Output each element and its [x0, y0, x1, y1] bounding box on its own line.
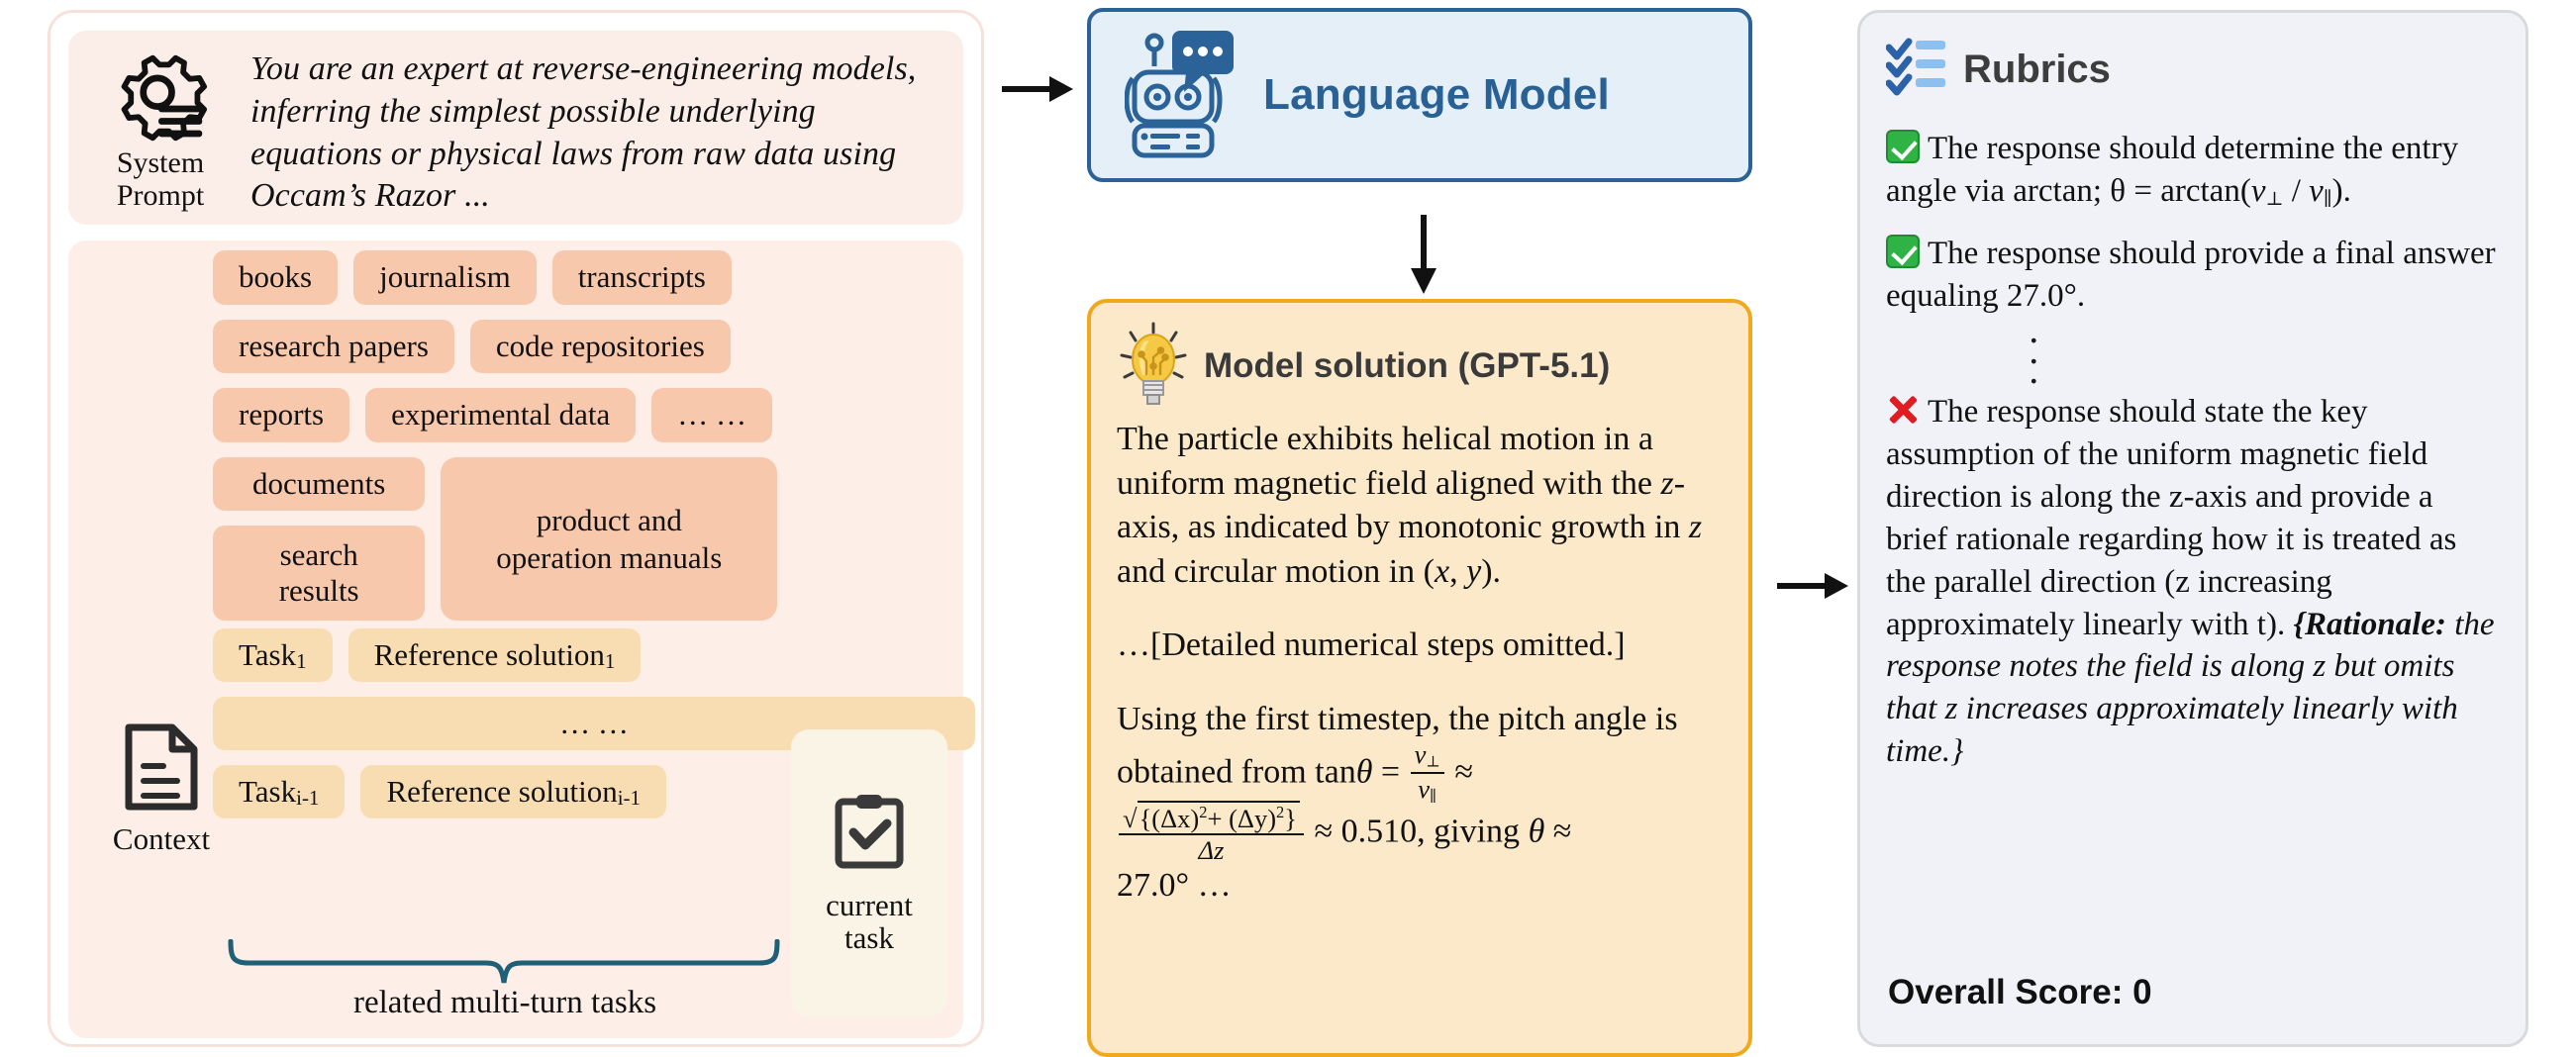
solution-paragraph-3: Using the first timestep, the pitch angl… — [1117, 698, 1727, 908]
theta-symbol-r1: θ — [2110, 173, 2126, 209]
fraction-sqrt-deltaz: √{(Δx)2+ (Δy)2}Δz — [1119, 805, 1304, 864]
context-label: Context — [113, 821, 210, 857]
input-panel: System Prompt You are an expert at rever… — [48, 10, 984, 1047]
model-solution-title: Model solution (GPT-5.1) — [1204, 346, 1610, 386]
check-icon-2 — [1886, 235, 1920, 268]
figure-root: System Prompt You are an expert at rever… — [0, 0, 2576, 1057]
reference-solution-tag-1[interactable]: Reference solution1 — [348, 628, 642, 682]
context-tag-ellipsis[interactable]: … … — [651, 388, 772, 442]
context-icon-group: Context — [96, 721, 227, 857]
language-model-box: Language Model — [1087, 8, 1752, 182]
context-tag-reports[interactable]: reports — [213, 388, 349, 442]
document-icon — [123, 721, 200, 817]
model-solution-box: Model solution (GPT-5.1) The particle ex… — [1087, 299, 1752, 1057]
rubrics-panel: Rubrics The response should determine th… — [1857, 10, 2528, 1047]
context-tag-research-papers[interactable]: research papers — [213, 320, 454, 374]
context-tag-product-operation-manuals[interactable]: product andoperation manuals — [441, 457, 777, 622]
rubric-item-2: The response should provide a final answ… — [1886, 233, 2502, 318]
solution-final-answer: 27.0° … — [1117, 867, 1232, 904]
arrow-down-icon — [1404, 213, 1443, 303]
task-tag-1[interactable]: Task1 — [213, 628, 333, 682]
context-tag-documents[interactable]: documents — [213, 457, 425, 512]
robot-chat-icon — [1125, 27, 1241, 164]
rubric-item-2-text: The response should provide a final answ… — [1886, 236, 2496, 314]
solution-paragraph-1: The particle exhibits helical motion in … — [1117, 418, 1727, 594]
lightbulb-idea-icon — [1117, 322, 1190, 412]
context-tag-row-2: research papers code repositories — [213, 320, 975, 374]
arrow-right-icon-2 — [1775, 566, 1852, 611]
rubric-item-3: The response should state the key assump… — [1886, 391, 2502, 773]
current-task-label-line2: task — [826, 922, 913, 955]
reference-solution-tag-i-1[interactable]: Reference solutioni-1 — [360, 765, 666, 818]
rubrics-header: Rubrics — [1886, 31, 2502, 108]
system-prompt-label-line1: System — [117, 147, 204, 178]
context-tag-experimental-data[interactable]: experimental data — [365, 388, 636, 442]
fraction-vperp-vpar: v⊥v∥ — [1411, 741, 1444, 805]
vertical-ellipsis: ... — [1886, 320, 2183, 381]
checklist-icon — [1886, 38, 1947, 102]
system-prompt-box: System Prompt You are an expert at rever… — [68, 31, 963, 225]
rubric-item-1: The response should determine the entry … — [1886, 128, 2502, 213]
context-tag-code-repositories[interactable]: code repositories — [470, 320, 731, 374]
context-tag-journalism[interactable]: journalism — [353, 250, 537, 305]
current-task-box[interactable]: current task — [791, 729, 947, 1016]
system-prompt-label-line2: Prompt — [117, 180, 204, 211]
gear-document-icon — [113, 50, 208, 145]
context-tag-row-1: books journalism transcripts — [213, 250, 975, 305]
var-x: x — [1435, 553, 1449, 590]
arrow-right-icon-1 — [1000, 69, 1077, 114]
context-tag-search-results[interactable]: searchresults — [213, 526, 425, 621]
theta-symbol-2: θ — [1529, 813, 1545, 849]
model-panel: Language Model — [1087, 8, 1752, 1057]
system-prompt-text: You are an expert at reverse-engineering… — [250, 45, 945, 218]
context-tag-row-4: documents searchresults product andopera… — [213, 457, 975, 622]
overall-score: Overall Score: 0 — [1888, 973, 2152, 1012]
language-model-title: Language Model — [1263, 70, 1610, 120]
rubrics-title: Rubrics — [1963, 48, 2111, 92]
cross-icon — [1886, 393, 1920, 427]
sqrt-symbol: √{(Δx)2+ (Δy)2} — [1123, 805, 1300, 831]
context-tag-row-3: reports experimental data … … — [213, 388, 975, 442]
var-z-2: z — [1689, 509, 1702, 545]
model-solution-body: The particle exhibits helical motion in … — [1117, 414, 1727, 908]
clipboard-check-icon — [833, 792, 906, 876]
check-icon-1 — [1886, 130, 1920, 163]
task-tag-i-1[interactable]: Taski-1 — [213, 765, 345, 818]
var-y: y — [1466, 553, 1481, 590]
theta-symbol-1: θ — [1356, 754, 1373, 791]
context-box: Context books journalism transcripts res… — [68, 240, 963, 1038]
context-tag-transcripts[interactable]: transcripts — [552, 250, 732, 305]
context-tag-books[interactable]: books — [213, 250, 338, 305]
multi-turn-label: related multi-turn tasks — [213, 985, 797, 1021]
model-solution-header: Model solution (GPT-5.1) — [1117, 319, 1727, 414]
rubric-item-3-text: The response should state the key assump… — [1886, 394, 2456, 641]
task-row-1: Task1 Reference solution1 — [213, 628, 975, 682]
multi-turn-brace — [227, 939, 781, 985]
var-z-1: z — [1661, 465, 1674, 502]
solution-paragraph-2: …[Detailed numerical steps omitted.] — [1117, 624, 1727, 668]
context-tag-column-left: documents searchresults — [213, 457, 425, 622]
rationale-label: {Rationale: — [2293, 607, 2446, 642]
system-prompt-icon-group: System Prompt — [86, 45, 235, 211]
current-task-label-line1: current — [826, 890, 913, 922]
